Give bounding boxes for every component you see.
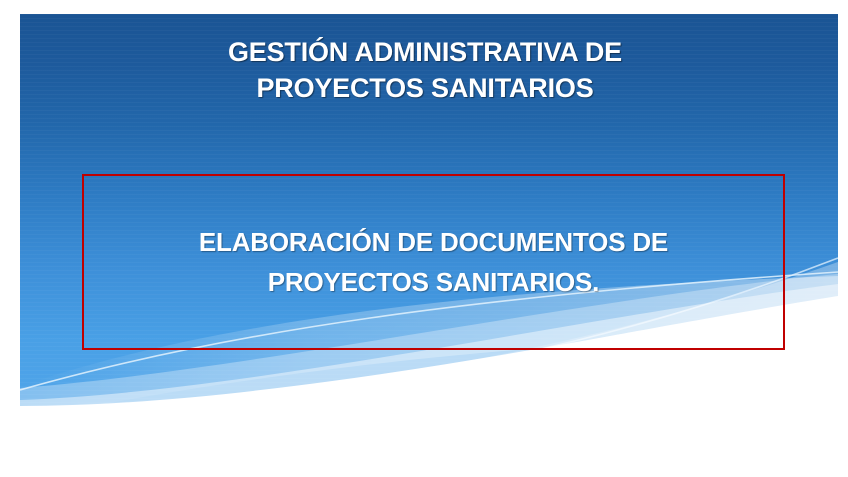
highlight-box [82, 174, 785, 350]
presentation-slide: GESTIÓN ADMINISTRATIVA DE PROYECTOS SANI… [0, 0, 848, 477]
